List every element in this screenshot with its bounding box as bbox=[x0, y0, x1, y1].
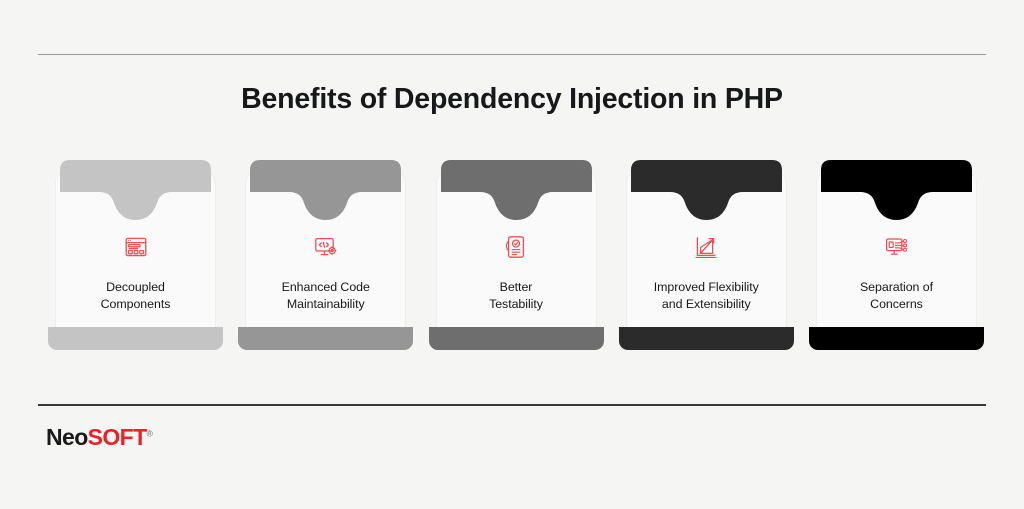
neosoft-logo: NeoSOFT® bbox=[46, 424, 153, 451]
card-label-line1: Enhanced Code bbox=[282, 280, 370, 294]
page-title: Benefits of Dependency Injection in PHP bbox=[0, 83, 1024, 116]
card-footer-bar bbox=[809, 327, 984, 350]
divider-top bbox=[38, 54, 986, 55]
monitor-nodes-icon bbox=[884, 234, 910, 260]
registered-trademark-icon: ® bbox=[147, 428, 153, 438]
card-footer-bar bbox=[48, 327, 223, 350]
card-label: Better Testability bbox=[436, 279, 597, 312]
card-label-line1: Decoupled bbox=[106, 280, 165, 294]
card-footer-bar bbox=[619, 327, 794, 350]
card-content: Enhanced Code Maintainability bbox=[245, 230, 406, 330]
logo-text-neo: Neo bbox=[46, 424, 88, 450]
test-document-check-icon bbox=[503, 234, 529, 260]
card-tab-shape bbox=[48, 158, 223, 224]
card-footer-bar bbox=[429, 327, 604, 350]
monitor-code-gear-icon bbox=[313, 234, 339, 260]
card-label-line2: Testability bbox=[489, 297, 543, 311]
card-content: Decoupled Components bbox=[55, 230, 216, 330]
card-label: Enhanced Code Maintainability bbox=[245, 279, 406, 312]
card-label-line1: Improved Flexibility bbox=[654, 280, 759, 294]
card-label-line1: Better bbox=[500, 280, 533, 294]
card-tab-shape bbox=[619, 158, 794, 224]
card-content: Better Testability bbox=[436, 230, 597, 330]
benefit-card[interactable]: Better Testability bbox=[429, 158, 604, 350]
benefit-card[interactable]: Decoupled Components bbox=[48, 158, 223, 350]
card-tab-shape bbox=[809, 158, 984, 224]
card-content: Separation of Concerns bbox=[816, 230, 977, 330]
card-label-line2: and Extensibility bbox=[662, 297, 751, 311]
card-tab-shape bbox=[429, 158, 604, 224]
benefit-card[interactable]: Separation of Concerns bbox=[809, 158, 984, 350]
divider-bottom bbox=[38, 404, 986, 406]
card-label-line2: Components bbox=[101, 297, 171, 311]
logo-text-soft: SOFT bbox=[88, 424, 147, 450]
browser-wireframe-icon bbox=[123, 234, 149, 260]
card-label-line1: Separation of bbox=[860, 280, 933, 294]
card-tab-shape bbox=[238, 158, 413, 224]
benefits-card-list: Decoupled Components bbox=[48, 158, 984, 350]
card-content: Improved Flexibility and Extensibility bbox=[626, 230, 787, 330]
card-label: Separation of Concerns bbox=[816, 279, 977, 312]
card-footer-bar bbox=[238, 327, 413, 350]
benefit-card[interactable]: Improved Flexibility and Extensibility bbox=[619, 158, 794, 350]
card-label: Improved Flexibility and Extensibility bbox=[626, 279, 787, 312]
card-label-line2: Maintainability bbox=[287, 297, 365, 311]
card-label-line2: Concerns bbox=[870, 297, 923, 311]
card-label: Decoupled Components bbox=[55, 279, 216, 312]
growth-chart-arrow-icon bbox=[693, 234, 719, 260]
benefit-card[interactable]: Enhanced Code Maintainability bbox=[238, 158, 413, 350]
